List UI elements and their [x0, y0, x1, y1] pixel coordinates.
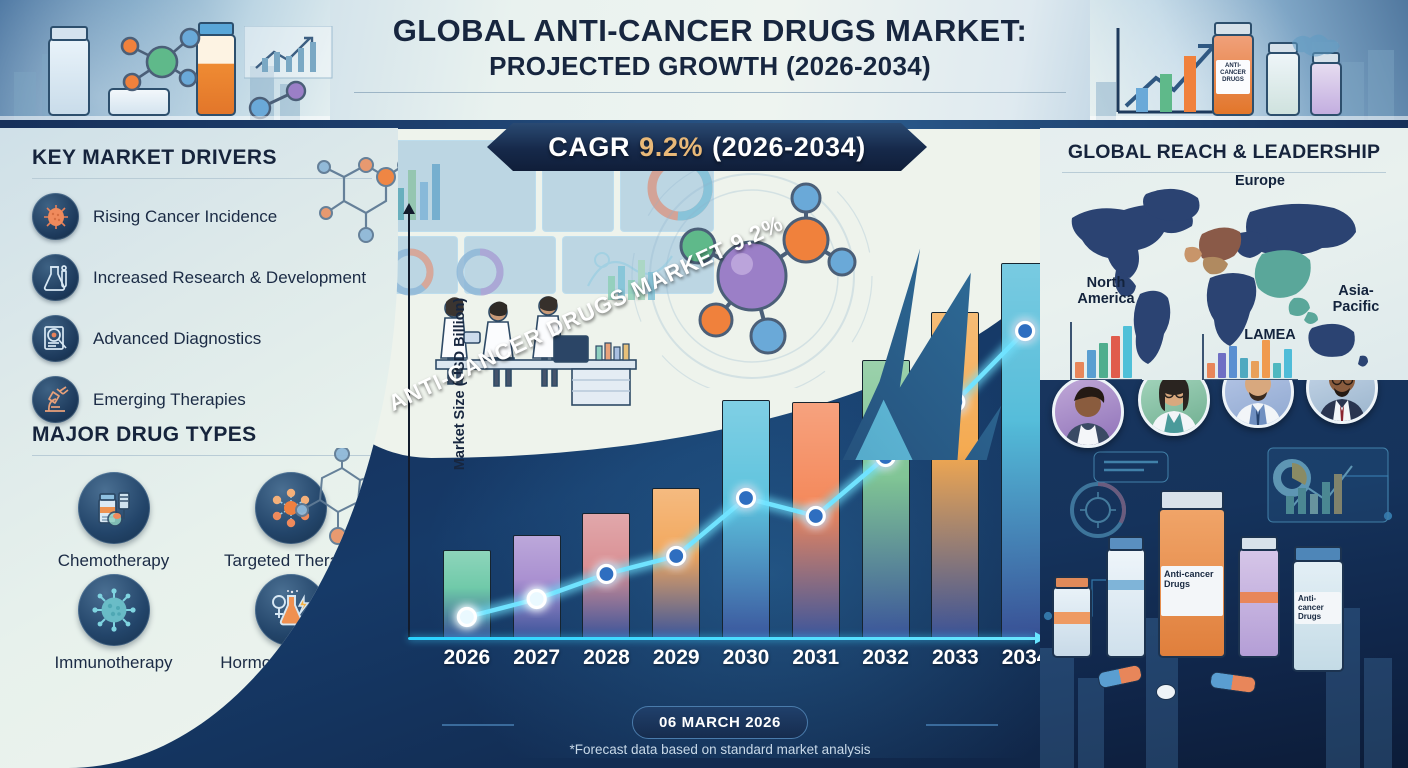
pill-tablet — [1156, 684, 1176, 700]
driver-label: Increased Research & Development — [93, 268, 366, 287]
growth-chart-icon — [244, 26, 334, 82]
bottle-clear — [1106, 548, 1146, 658]
trend-point-2031 — [807, 508, 824, 525]
mini-bar — [1240, 358, 1248, 378]
trend-point-2028 — [598, 566, 615, 583]
trend-point-2030 — [738, 490, 755, 507]
global-reach-divider — [1062, 172, 1386, 173]
bottle-purple — [1310, 62, 1342, 116]
trend-point-2034 — [1017, 323, 1034, 340]
cagr-value: 9.2% — [639, 132, 703, 163]
bottle-purple — [1238, 548, 1280, 658]
cagr-badge: CAGR 9.2% (2026-2034) — [487, 123, 927, 171]
magnifier-document-icon — [32, 315, 79, 362]
drug-type-label: Chemotherapy — [32, 551, 195, 570]
mini-chart-axis — [1070, 322, 1072, 380]
avatar-male-doctor — [1222, 380, 1294, 428]
trend-point-2026 — [458, 609, 475, 626]
product-label-main: Anti-cancer Drugs — [1161, 566, 1223, 616]
header-banner: GLOBAL ANTI-CANCER DRUGS MARKET: PROJECT… — [0, 0, 1408, 128]
trend-line — [408, 212, 1036, 640]
driver-label: Emerging Therapies — [93, 390, 246, 409]
footnote: *Forecast data based on standard market … — [430, 742, 1010, 757]
x-tick-2027: 2027 — [497, 646, 577, 670]
avatar-male-executive — [1306, 380, 1378, 424]
bottle-white — [48, 38, 90, 116]
molecule-icon — [110, 20, 230, 100]
trend-point-2032 — [877, 449, 894, 466]
region-asia-pacific-label: Asia-Pacific — [1318, 284, 1394, 316]
date-row: 06 MARCH 2026 — [430, 706, 1010, 739]
page-subtitle: PROJECTED GROWTH (2026-2034) — [330, 51, 1090, 82]
right-sidebar: GLOBAL REACH & LEADERSHIP — [1040, 128, 1408, 768]
driver-label: Rising Cancer Incidence — [93, 207, 277, 226]
region-europe-label: Europe — [1220, 174, 1300, 190]
x-tick-2033: 2033 — [915, 646, 995, 670]
drug-type-item-2[interactable]: Immunotherapy — [32, 574, 195, 672]
cagr-period: (2026-2034) — [712, 132, 866, 163]
left-sidebar: KEY MARKET DRIVERS Rising Cancer Inciden… — [0, 128, 398, 768]
city-building — [1078, 678, 1104, 768]
mini-bar — [1284, 349, 1292, 378]
molecule-decoration-icon — [288, 448, 388, 558]
drug-type-item-3[interactable]: Hormonal Therapy — [209, 574, 372, 672]
cagr-prefix: CAGR — [548, 132, 630, 163]
x-tick-2026: 2026 — [427, 646, 507, 670]
mini-chart-axis — [1202, 334, 1204, 380]
world-map: Europe North America Asia-Pacific LAMEA — [1054, 176, 1398, 388]
bottle-band — [1240, 592, 1278, 603]
products-section: Anti-cancer Drugs Anti-cancer Drugs — [1040, 380, 1408, 768]
mini-bar — [1111, 336, 1120, 378]
region-north-america-label: North America — [1060, 276, 1152, 308]
mini-bar — [1273, 363, 1281, 378]
bottle-cap — [1240, 536, 1278, 551]
bottle-cap — [1108, 536, 1144, 551]
driver-item-2[interactable]: Advanced Diagnostics — [32, 315, 372, 362]
north-america-mini-chart — [1070, 322, 1142, 380]
page-title: GLOBAL ANTI-CANCER DRUGS MARKET: — [330, 14, 1090, 47]
driver-label: Advanced Diagnostics — [93, 329, 261, 348]
bar-chart-plot: Market Size (USD Billion) 20262027202820… — [408, 212, 1036, 640]
virus-icon — [32, 193, 79, 240]
drugtypes-heading: MAJOR DRUG TYPES — [32, 423, 372, 447]
global-reach-heading: GLOBAL REACH & LEADERSHIP — [1040, 141, 1408, 164]
bottle-band — [1054, 612, 1090, 624]
cell-virus-icon — [78, 574, 150, 646]
x-tick-2028: 2028 — [566, 646, 646, 670]
bottle-cap — [1294, 546, 1342, 562]
driver-item-3[interactable]: Emerging Therapies — [32, 376, 372, 423]
mini-bar — [1207, 363, 1215, 378]
mini-bar — [1229, 346, 1237, 378]
bottle-cap — [1160, 490, 1224, 510]
world-map-icon — [1286, 24, 1346, 64]
hormone-flask-icon — [255, 574, 327, 646]
date-line-left — [442, 724, 514, 726]
x-tick-2032: 2032 — [846, 646, 926, 670]
mini-bar — [1075, 362, 1084, 378]
title-divider — [354, 92, 1066, 93]
header-left-illustration — [0, 0, 330, 128]
molecule-decoration-icon — [300, 143, 398, 263]
bottle-cap — [1054, 576, 1090, 589]
molecule-decoration-icon — [286, 714, 398, 768]
drug-type-label: Immunotherapy — [32, 653, 195, 672]
x-tick-2029: 2029 — [636, 646, 716, 670]
cagr-text: CAGR 9.2% (2026-2034) — [487, 123, 927, 171]
bottle-band — [1108, 580, 1144, 590]
trend-point-2027 — [528, 591, 545, 608]
mini-bar — [1087, 350, 1096, 378]
x-tick-2030: 2030 — [706, 646, 786, 670]
flask-testtube-icon — [32, 254, 79, 301]
medicine-bottle-iv-icon — [78, 472, 150, 544]
mini-bar — [1262, 340, 1270, 378]
mini-bar — [1251, 361, 1259, 378]
lamea-mini-chart — [1202, 334, 1298, 380]
x-tick-2031: 2031 — [776, 646, 856, 670]
product-label-secondary: Anti-cancer Drugs — [1295, 592, 1341, 624]
header-title-block: GLOBAL ANTI-CANCER DRUGS MARKET: PROJECT… — [330, 14, 1090, 93]
date-line-right — [926, 724, 998, 726]
x-axis — [408, 637, 1036, 640]
global-reach-section: GLOBAL REACH & LEADERSHIP — [1040, 128, 1408, 396]
avatar-female-scientist — [1138, 380, 1210, 436]
bottle-cap — [1214, 22, 1252, 36]
header-right-illustration: ANTI-CANCER DRUGS — [1090, 0, 1408, 128]
bottle-cap — [50, 26, 88, 41]
trend-point-2033 — [947, 394, 964, 411]
date-badge: 06 MARCH 2026 — [632, 706, 808, 739]
mini-bar — [1123, 326, 1132, 378]
mini-bar — [1099, 343, 1108, 378]
mini-bar — [1218, 353, 1226, 378]
drug-type-item-0[interactable]: Chemotherapy — [32, 472, 195, 570]
header-bottle-label: ANTI-CANCER DRUGS — [1216, 60, 1250, 94]
trend-point-2029 — [668, 548, 685, 565]
microscope-icon — [32, 376, 79, 423]
drug-type-label: Hormonal Therapy — [209, 653, 372, 672]
